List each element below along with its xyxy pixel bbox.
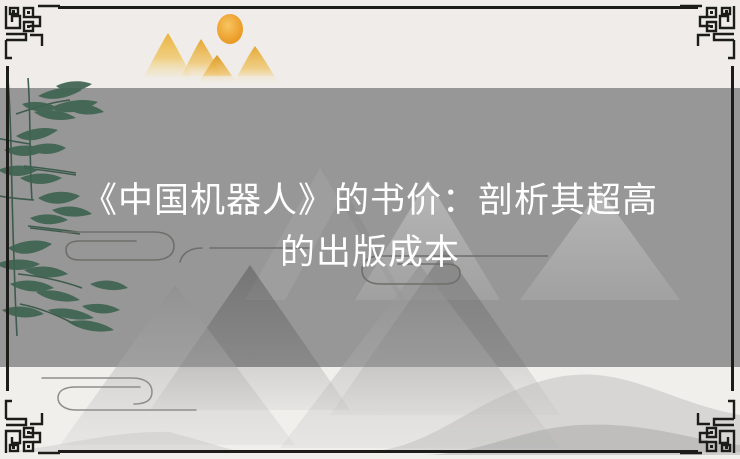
frame-rule-right [731,66,734,391]
meander-corner-top-left-icon [2,2,64,64]
frame-rule-bottom [58,450,698,453]
cloud-scroll-left [62,222,312,272]
meander-corner-bottom-left-icon [2,395,64,457]
sun-and-mountains-art [135,4,290,88]
cloud-scroll-bottom [36,370,226,422]
meander-corner-top-right-icon [676,2,738,64]
frame-rule-left [6,66,9,391]
ink-bamboo-art [0,78,144,338]
poster-canvas: 《中国机器人》的书价：剖析其超高 的出版成本 [0,0,740,459]
meander-corner-bottom-right-icon [676,395,738,457]
frame-rule-top [58,6,698,9]
cloud-scroll-right [358,248,548,298]
